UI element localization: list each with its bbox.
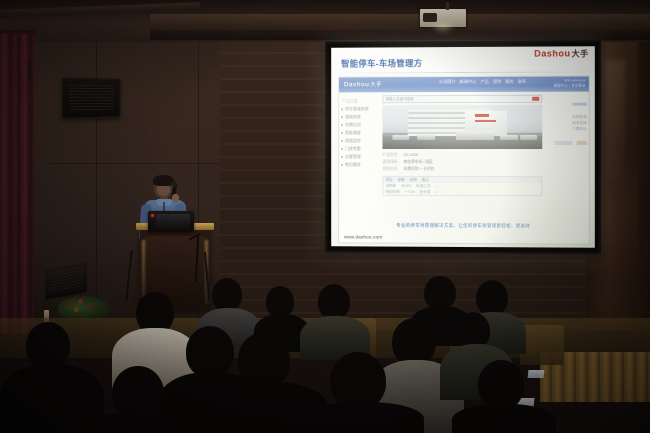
sidebar-item-label: 道闸系统 <box>345 113 361 121</box>
projector-mount <box>446 2 449 10</box>
photo-car <box>392 135 409 140</box>
sidebar-item-2[interactable]: 车牌识别 <box>341 121 378 129</box>
nav-meta-account[interactable]: 客服中心 | 会员登录 <box>554 83 586 88</box>
projection-screen: Dashou大手 智能停车-车场管理方 Dashou大手 公司简介 新闻中心 产… <box>325 40 601 254</box>
detail-row: 识别方式 车牌识别 + 卡识别 <box>382 166 542 173</box>
slide-title: 智能停车-车场管理方 <box>341 57 422 69</box>
photo-car <box>500 135 518 140</box>
webpage-logo-cn: 大手 <box>370 82 381 88</box>
webpage-detail-rows: 产品型号 DS-2000 适用场所 商业停车场 / 园区 识别方式 车牌识别 +… <box>382 152 542 173</box>
webpage-sidebar: 产品分类 停车管理系统 道闸系统 车牌识别 智能通道 视频监控 门禁考勤 访客管… <box>341 96 378 169</box>
bullet-icon <box>341 140 343 142</box>
photo-signage <box>475 114 489 117</box>
webpage-footnote: 专业的停车场管理解决方案，让您的停车场管理更轻松、更高效 <box>339 222 589 229</box>
detail-label: 识别方式 <box>382 166 397 173</box>
right-panel-primary-button[interactable] <box>554 141 572 145</box>
webpage-body: 产品分类 停车管理系统 道闸系统 车牌识别 智能通道 视频监控 门禁考勤 访客管… <box>339 92 589 244</box>
bullet-icon <box>341 132 343 134</box>
sidebar-group-label: 产品分类 <box>341 96 378 105</box>
laptop-power-led <box>151 214 154 217</box>
microphone-head <box>171 181 177 187</box>
wall-seam <box>50 163 220 164</box>
detail-value: DS-2000 <box>403 152 418 159</box>
webpage-main-column: 请输入关键词搜索 <box>382 95 542 196</box>
webpage-url: www.dashou.com <box>344 234 382 239</box>
nav-item-3[interactable]: 案例 <box>493 79 501 84</box>
audience-shoulders <box>452 404 556 433</box>
sidebar-item-label: 售后服务 <box>345 161 361 169</box>
webpage-nav-items: 公司简介 新闻中心 产品 案例 服务 联系 <box>439 79 526 84</box>
audience-head <box>392 318 436 366</box>
bullet-icon <box>341 108 343 110</box>
slide-header: Dashou大手 智能停车-车场管理方 <box>331 46 595 73</box>
sidebar-item-label: 门禁考勤 <box>345 145 361 153</box>
audience-head <box>476 280 508 316</box>
slide-brand-logo: Dashou大手 <box>534 48 589 59</box>
speaker-bracket <box>28 62 31 80</box>
sidebar-item-label: 智能通道 <box>345 129 361 137</box>
search-button[interactable] <box>532 97 539 101</box>
photo-car <box>417 135 434 140</box>
sidebar-item-label: 停车管理系统 <box>345 105 369 113</box>
detail-label: 适用场所 <box>382 159 397 166</box>
audience-head <box>478 360 524 410</box>
right-wall-reflection <box>605 60 625 180</box>
slide-brand-latin: Dashou <box>534 48 570 58</box>
nav-item-5[interactable]: 联系 <box>518 79 526 84</box>
slide-brand-cn: 大手 <box>572 49 589 58</box>
projection-screen-surface: Dashou大手 智能停车-车场管理方 Dashou大手 公司简介 新闻中心 产… <box>331 46 595 248</box>
audience-head <box>424 276 456 310</box>
audience-head <box>318 284 350 320</box>
nav-item-4[interactable]: 服务 <box>505 79 513 84</box>
wall-speaker-icon <box>62 77 121 118</box>
table-cell: 全天候 <box>419 189 430 195</box>
projector-glow <box>430 24 456 34</box>
sidebar-item-7[interactable]: 售后服务 <box>341 161 378 169</box>
ceiling-beam <box>150 14 650 30</box>
embedded-webpage: Dashou大手 公司简介 新闻中心 产品 案例 服务 联系 400-xxx-x… <box>339 76 589 243</box>
projector-lens <box>423 13 437 22</box>
table-row: 响应时间 < 0.5s 全天候 — <box>383 189 541 195</box>
sidebar-item-1[interactable]: 道闸系统 <box>341 113 378 121</box>
webpage-logo[interactable]: Dashou大手 <box>344 80 382 88</box>
webpage-navbar: Dashou大手 公司简介 新闻中心 产品 案例 服务 联系 400-xxx-x… <box>339 76 589 92</box>
audience-head <box>212 278 242 312</box>
sidebar-item-5[interactable]: 门禁考勤 <box>341 145 378 153</box>
sidebar-item-6[interactable]: 访客管理 <box>341 153 378 161</box>
webpage-nav-meta: 400-xxx-xxxx 客服中心 | 会员登录 <box>554 78 586 88</box>
audience <box>0 270 650 433</box>
photo-signage <box>475 119 496 122</box>
right-panel-tag <box>573 102 587 106</box>
sidebar-item-label: 视频监控 <box>345 137 361 145</box>
bullet-icon <box>341 124 343 126</box>
table-cell: < 0.5s <box>405 189 415 195</box>
bullet-icon <box>341 156 343 158</box>
webpage-search-bar[interactable]: 请输入关键词搜索 <box>382 95 542 103</box>
nav-item-1[interactable]: 新闻中心 <box>460 79 477 84</box>
detail-value: 商业停车场 / 园区 <box>403 159 433 166</box>
photo-truck <box>456 131 494 140</box>
ceiling-soffit <box>150 30 650 40</box>
name-card <box>528 370 545 378</box>
table-cell: 响应时间 <box>385 189 399 195</box>
webpage-right-panel: 在线咨询 技术支持 下载中心 <box>544 96 586 150</box>
nav-item-2[interactable]: 产品 <box>480 79 488 84</box>
slide-divider <box>335 71 591 73</box>
audience-head <box>26 322 70 370</box>
sidebar-item-label: 访客管理 <box>345 153 361 161</box>
audience-shoulders <box>84 412 196 433</box>
audience-head <box>186 326 234 378</box>
webpage-hero-photo <box>382 105 542 149</box>
search-input[interactable]: 请输入关键词搜索 <box>385 97 414 102</box>
bullet-icon <box>341 148 343 150</box>
right-panel-secondary-button[interactable] <box>577 141 587 145</box>
audience-shoulders <box>300 402 424 433</box>
bullet-icon <box>341 116 343 118</box>
sidebar-item-4[interactable]: 视频监控 <box>341 137 378 145</box>
sidebar-item-label: 车牌识别 <box>345 121 361 129</box>
webpage-logo-latin: Dashou <box>344 81 369 88</box>
sidebar-item-0[interactable]: 停车管理系统 <box>341 105 378 113</box>
presenter-hand <box>172 194 179 202</box>
webpage-spec-table: 项目 参数 说明 备注 识别率 99.5% 标准工况 — <box>382 176 542 196</box>
speaker-grill <box>69 85 114 112</box>
sidebar-item-3[interactable]: 智能通道 <box>341 129 378 137</box>
photo-car <box>520 135 538 140</box>
table-cell: — <box>435 189 439 195</box>
audience-head <box>238 332 290 388</box>
detail-value: 车牌识别 + 卡识别 <box>403 166 434 173</box>
right-panel-line-2[interactable]: 下载中心 <box>544 126 586 132</box>
chair-back <box>520 325 564 365</box>
laptop-screen <box>156 214 190 228</box>
conference-room-photo: Dashou大手 智能停车-车场管理方 Dashou大手 公司简介 新闻中心 产… <box>0 0 650 433</box>
detail-label: 产品型号 <box>382 152 397 159</box>
laptop <box>148 211 194 232</box>
nav-item-0[interactable]: 公司简介 <box>439 79 456 84</box>
bullet-icon <box>341 164 343 166</box>
